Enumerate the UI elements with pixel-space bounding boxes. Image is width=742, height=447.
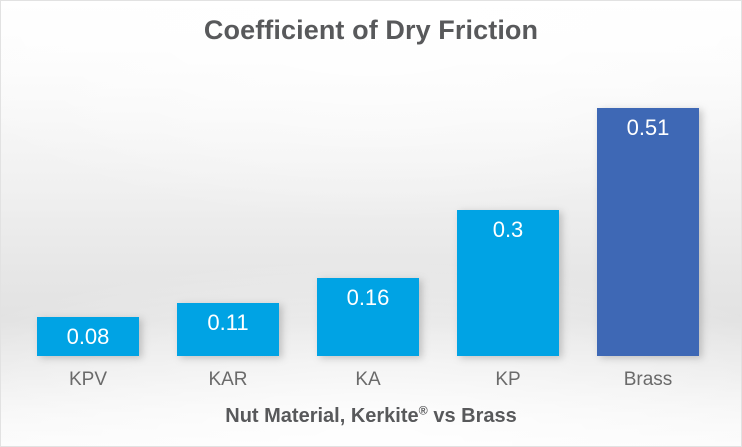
x-tick-label-kar: KAR [177,370,279,389]
x-tick-label-kp: KP [457,370,559,389]
bar-group-kp: 0.3KP [457,1,559,356]
bar-ka[interactable] [317,278,419,356]
registered-trademark-icon: ® [419,403,428,417]
x-axis-title-text: Nut Material, Kerkite [225,405,418,427]
bar-group-brass: 0.51Brass [597,1,699,356]
bar-group-ka: 0.16KA [317,1,419,356]
x-axis-title-text-tail: vs Brass [428,405,517,427]
bar-kp[interactable] [457,210,559,356]
plot-area: 0.08KPV0.11KAR0.16KA0.3KP0.51Brass [1,1,742,447]
x-tick-label-ka: KA [317,370,419,389]
x-tick-label-brass: Brass [597,370,699,389]
bar-group-kar: 0.11KAR [177,1,279,356]
bar-kpv[interactable] [37,317,139,356]
x-tick-label-kpv: KPV [37,370,139,389]
bar-kar[interactable] [177,303,279,356]
bar-brass[interactable] [597,108,699,356]
x-axis-title: Nut Material, Kerkite® vs Brass [1,405,741,428]
bar-chart-figure: Coefficient of Dry Friction 0.08KPV0.11K… [0,0,742,447]
chart-title: Coefficient of Dry Friction [1,15,741,46]
bar-group-kpv: 0.08KPV [37,1,139,356]
